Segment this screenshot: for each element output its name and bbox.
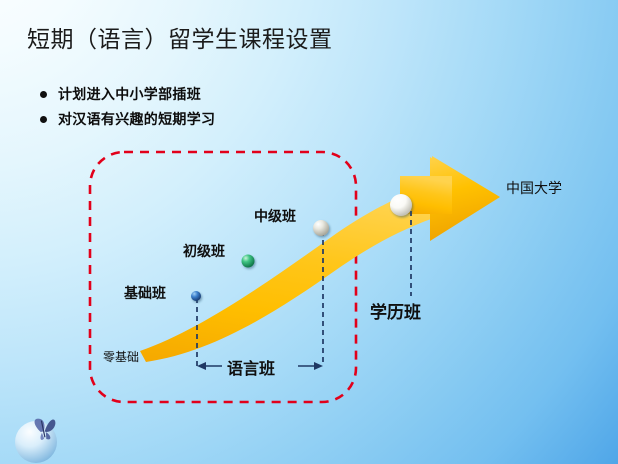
marker-middle-sphere	[313, 220, 329, 236]
butterfly-logo	[15, 415, 59, 463]
stage-label-zero: 零基础	[103, 348, 139, 365]
marker-degree-sphere	[390, 194, 412, 216]
span-label-language: 语言班	[227, 355, 275, 379]
stage-label-basic: 基础班	[124, 283, 166, 303]
destination-label: 中国大学	[506, 178, 562, 198]
slide-canvas: 短期（语言）留学生课程设置 计划进入中小学部插班 对汉语有兴趣的短期学习	[0, 0, 618, 464]
diagram-graphics	[0, 0, 618, 464]
stage-label-middle: 中级班	[254, 206, 296, 226]
progression-diagram: 基础班 初级班 中级班 零基础 语言班 学历班 中国大学	[0, 0, 618, 464]
stage-label-degree: 学历班	[370, 298, 421, 323]
stage-label-primary: 初级班	[183, 241, 225, 261]
marker-primary-sphere	[242, 255, 255, 268]
marker-basic-sphere	[191, 291, 201, 301]
